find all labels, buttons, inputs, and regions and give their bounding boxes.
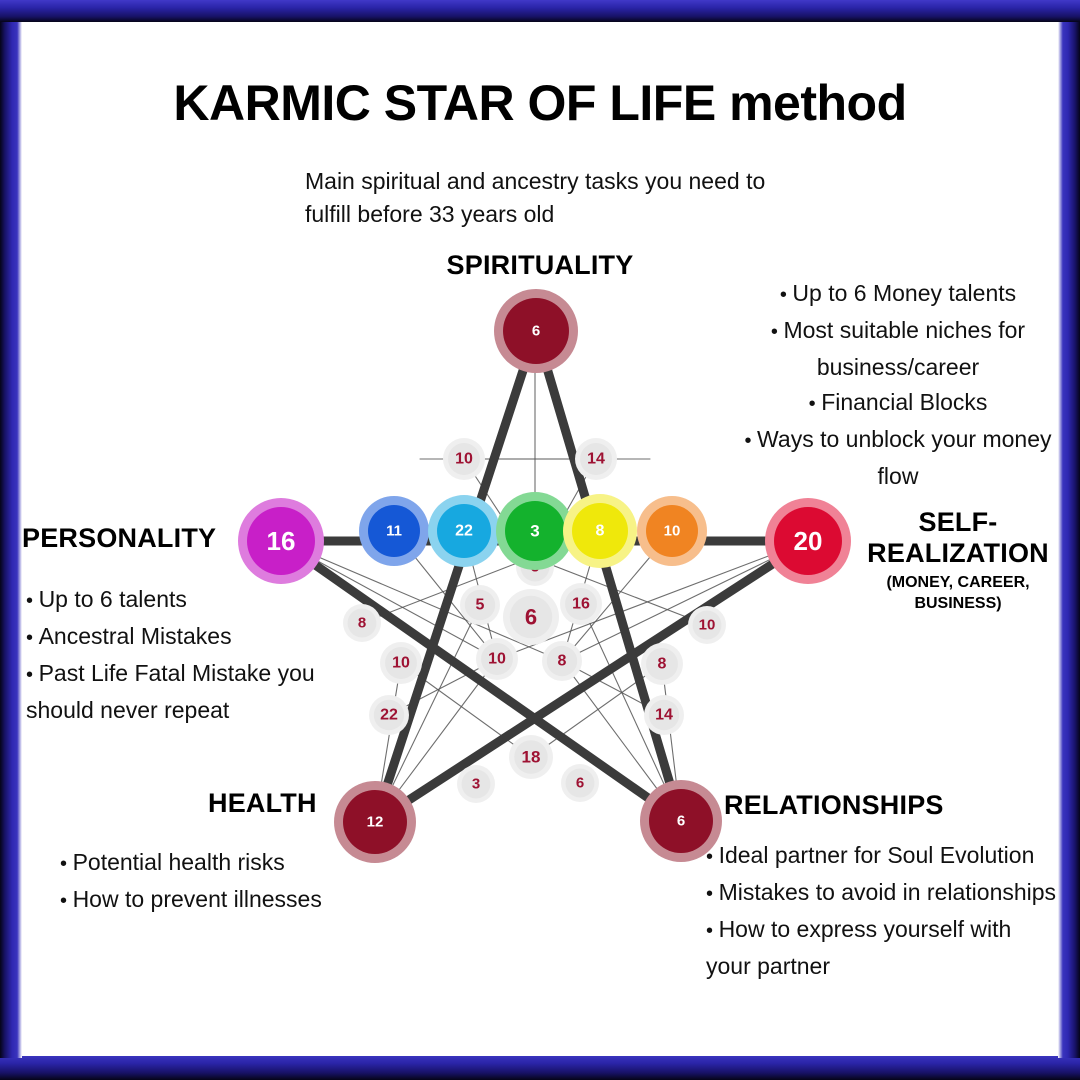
point-label-health: HEALTH: [208, 788, 317, 819]
node-value: 10: [664, 523, 681, 540]
bullet-text: Mistakes to avoid in relationships: [719, 879, 1057, 905]
grey-node-value: 8: [658, 656, 667, 673]
node-value: 11: [386, 523, 402, 540]
bullet-text: Past Life Fatal Mistake you should never…: [26, 660, 315, 723]
bullet-list-self-realization: • Up to 6 Money talents• Most suitable n…: [730, 276, 1066, 494]
node-value: 8: [596, 523, 605, 540]
bullet-item: • Ancestral Mistakes: [26, 619, 356, 656]
grey-node-value: 10: [488, 651, 506, 668]
bullet-dot-icon: •: [771, 321, 784, 343]
grey-node-value: 10: [392, 655, 410, 672]
bullet-text: Ancestral Mistakes: [39, 623, 232, 649]
bullet-item: • Financial Blocks: [730, 385, 1066, 422]
bullet-text: Up to 6 talents: [39, 586, 187, 612]
bullet-item: • Mistakes to avoid in relationships: [706, 875, 1058, 912]
bullet-dot-icon: •: [706, 846, 719, 868]
grey-node-value: 3: [472, 776, 480, 793]
bullet-item: • Past Life Fatal Mistake you should nev…: [26, 656, 356, 728]
bullet-text: Ideal partner for Soul Evolution: [719, 842, 1035, 868]
node-value: 6: [677, 813, 685, 830]
bullet-text: Potential health risks: [73, 849, 285, 875]
bullet-dot-icon: •: [809, 393, 822, 415]
bullet-dot-icon: •: [26, 664, 39, 686]
grey-node-value: 22: [380, 707, 398, 724]
bullet-item: • Ideal partner for Soul Evolution: [706, 838, 1058, 875]
grey-node-value: 6: [525, 605, 537, 630]
bullet-dot-icon: •: [706, 920, 719, 942]
bullet-item: • Up to 6 talents: [26, 582, 356, 619]
node-value: 22: [455, 523, 473, 540]
grey-node-value: 14: [587, 451, 605, 468]
point-label-relationships: RELATIONSHIPS: [724, 790, 944, 821]
chakra-nodes-group: 11223810: [359, 492, 707, 570]
node-value: 3: [530, 522, 539, 541]
self-realization-sublabel: (MONEY, CAREER, BUSINESS): [848, 572, 1068, 614]
bullet-item: • How to prevent illnesses: [60, 882, 440, 919]
bullet-dot-icon: •: [706, 883, 719, 905]
bullet-item: • Up to 6 Money talents: [730, 276, 1066, 313]
grey-node-value: 10: [699, 617, 716, 634]
grey-node-value: 8: [558, 653, 567, 670]
bullet-item: • How to express yourself with your part…: [706, 912, 1058, 984]
bullet-text: Ways to unblock your money flow: [757, 426, 1051, 489]
grey-node-value: 5: [476, 597, 485, 614]
bullet-text: How to express yourself with your partne…: [706, 916, 1011, 979]
self-realization-main: SELF-REALIZATION: [867, 507, 1049, 568]
infographic-page: KARMIC STAR OF LIFE method Main spiritua…: [0, 0, 1080, 1080]
bullet-dot-icon: •: [60, 890, 73, 912]
bullet-dot-icon: •: [26, 590, 39, 612]
node-value: 12: [367, 814, 384, 831]
bullet-text: Financial Blocks: [821, 389, 987, 415]
node-value: 16: [267, 526, 296, 556]
bullet-text: How to prevent illnesses: [73, 886, 322, 912]
point-label-personality: PERSONALITY: [22, 523, 216, 554]
bullet-list-personality: • Up to 6 talents• Ancestral Mistakes• P…: [26, 582, 356, 728]
node-value: 20: [794, 526, 823, 556]
bullet-dot-icon: •: [780, 284, 793, 306]
grey-node-value: 8: [358, 615, 366, 632]
bullet-dot-icon: •: [744, 430, 757, 452]
grey-node-value: 14: [655, 707, 673, 724]
bullet-item: • Ways to unblock your money flow: [730, 422, 1066, 494]
bullet-dot-icon: •: [60, 853, 73, 875]
point-label-self-realization: SELF-REALIZATION (MONEY, CAREER, BUSINES…: [848, 507, 1068, 614]
grey-node-value: 16: [572, 596, 590, 613]
bullet-text: Up to 6 Money talents: [792, 280, 1016, 306]
bullet-text: Most suitable niches for business/career: [783, 317, 1025, 380]
bullet-list-relationships: • Ideal partner for Soul Evolution• Mist…: [706, 838, 1058, 984]
bullet-dot-icon: •: [26, 627, 39, 649]
grey-node-value: 10: [455, 451, 473, 468]
bullet-item: • Most suitable niches for business/care…: [730, 313, 1066, 385]
grey-node-value: 6: [576, 775, 584, 792]
grey-node-value: 18: [522, 748, 541, 767]
node-value: 6: [532, 323, 540, 340]
bullet-list-health: • Potential health risks• How to prevent…: [60, 845, 440, 919]
star-edge: [536, 331, 681, 821]
bullet-item: • Potential health risks: [60, 845, 440, 882]
